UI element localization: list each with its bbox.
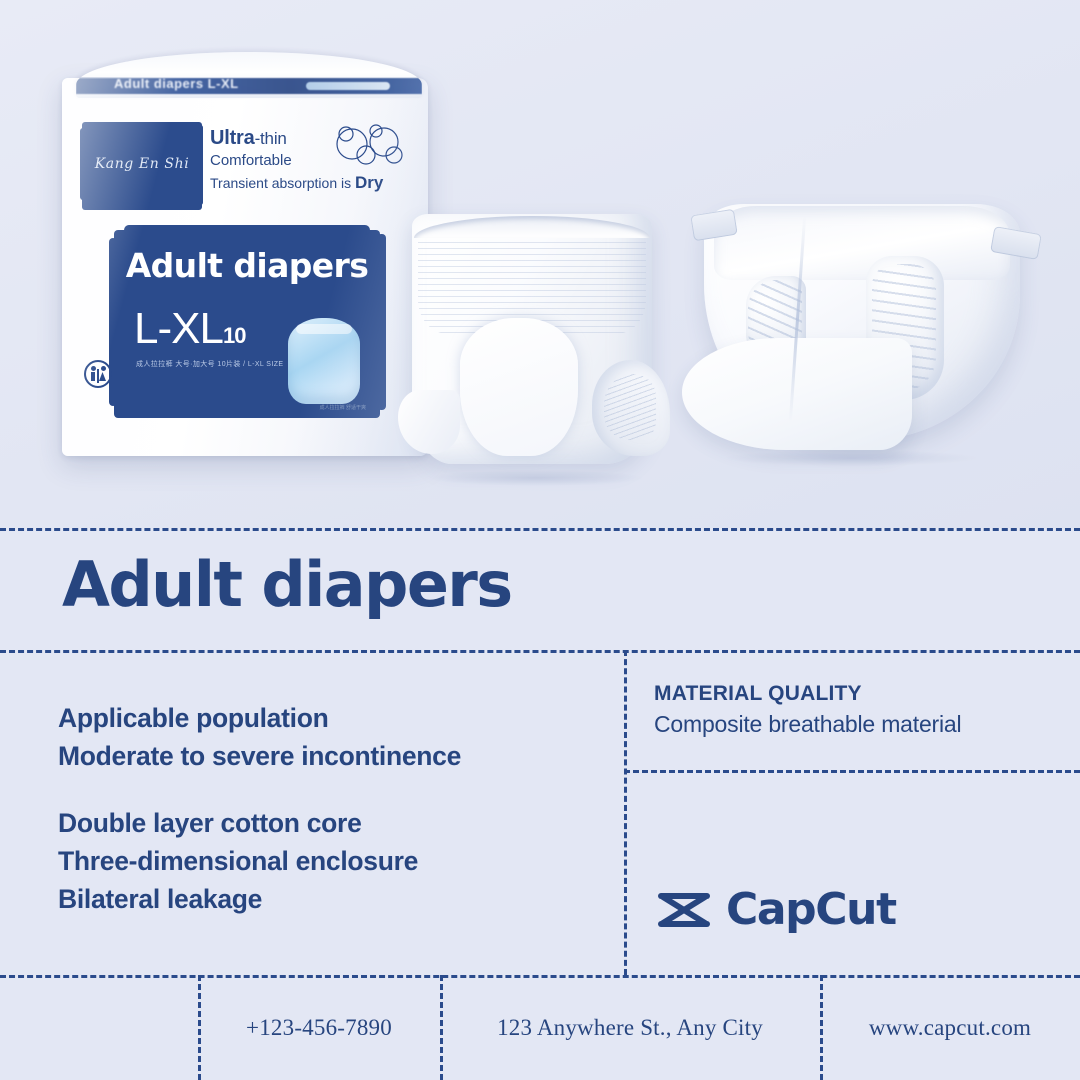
pull-up-diaper-photo: [404, 214, 666, 482]
package-size-count: 10: [223, 323, 245, 348]
package-size-subtext: 成人拉拉裤 大号·加大号 10片装 / L-XL SIZE: [136, 360, 283, 371]
divider-hero-bottom: [0, 528, 1080, 531]
package-thumbnail-caption: 成人拉拉裤 舒适干爽: [320, 405, 366, 412]
feature-line: Moderate to severe incontinence: [58, 738, 598, 776]
material-quality-body: Composite breathable material: [654, 709, 1064, 740]
package-brand-box: Kang En Shi: [84, 122, 200, 210]
material-quality-block: MATERIAL QUALITY Composite breathable ma…: [654, 680, 1064, 740]
material-quality-title: MATERIAL QUALITY: [654, 680, 1064, 708]
tab-style-diaper-photo: [686, 198, 1042, 464]
divider-headline-bottom: [0, 650, 1080, 653]
package-navy-top-edge: [124, 225, 370, 235]
brand-name: CapCut: [726, 884, 896, 935]
feature-line: Bilateral leakage: [58, 881, 598, 919]
package-brand-script: Kang En Shi: [84, 156, 200, 172]
page-title: Adult diapers: [62, 552, 512, 617]
hero-product-showcase: Adult diapers L-XL Kang En Shi Ultra-thi…: [0, 0, 1080, 528]
package-size-label: L-XL10: [134, 304, 245, 354]
feature-line: Double layer cotton core: [58, 805, 598, 843]
divider-material-bottom: [624, 770, 1080, 773]
feature-line: Applicable population: [58, 700, 598, 738]
package-navy-panel: Adult diapers L-XL10 成人拉拉裤 大号·加大号 10片装 /…: [114, 230, 380, 418]
footer-address: 123 Anywhere St., Any City: [440, 975, 820, 1080]
unisex-icon: [84, 360, 112, 388]
cotton-ball-icon: [326, 122, 410, 168]
package-claim-dry-prefix: Transient absorption is: [210, 175, 355, 191]
package-product-thumbnail: [288, 318, 360, 404]
capcut-logo-icon: [656, 887, 712, 933]
package-claim-dry-word: Dry: [355, 173, 383, 192]
product-package-image: Adult diapers L-XL Kang En Shi Ultra-thi…: [62, 78, 428, 456]
feature-line: Three-dimensional enclosure: [58, 843, 598, 881]
package-size-main: L-XL: [134, 304, 223, 353]
package-top-seal: Adult diapers L-XL: [76, 52, 422, 98]
package-claim-dry: Transient absorption is Dry: [210, 172, 362, 193]
feature-list: Applicable population Moderate to severe…: [58, 700, 598, 918]
footer-website[interactable]: www.capcut.com: [820, 975, 1080, 1080]
package-top-strip-text: Adult diapers L-XL: [114, 76, 239, 91]
feature-group: Applicable population Moderate to severe…: [58, 700, 598, 775]
package-product-title: Adult diapers: [114, 246, 380, 285]
feature-group: Double layer cotton core Three-dimension…: [58, 805, 598, 918]
package-claim-thin: -thin: [255, 129, 287, 148]
brand-logo: CapCut: [656, 884, 896, 935]
package-claim-ultra: Ultra: [210, 127, 255, 149]
footer-phone[interactable]: +123-456-7890: [198, 975, 440, 1080]
divider-vertical-main: [624, 650, 627, 975]
